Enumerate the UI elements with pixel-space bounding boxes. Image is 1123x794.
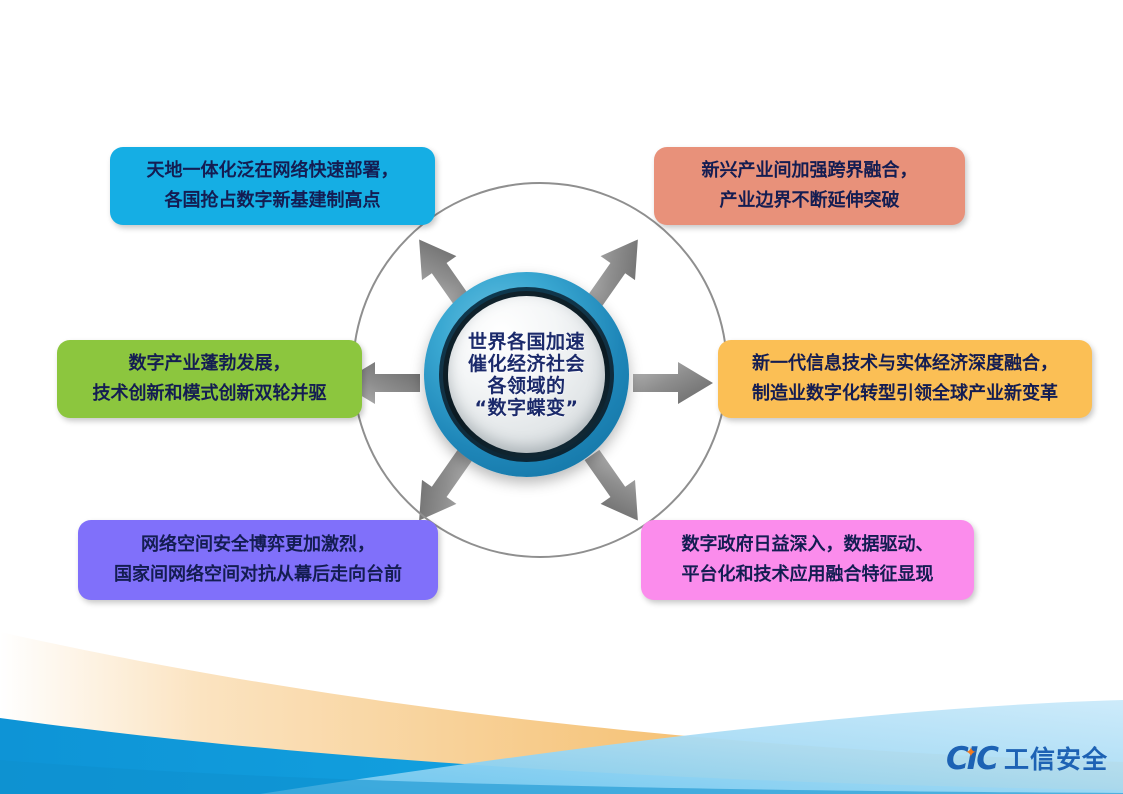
callout-top-right-line-1: 新兴产业间加强跨界融合， [702,156,918,186]
callout-right[interactable]: 新一代信息技术与实体经济深度融合， 制造业数字化转型引领全球产业新变革 [718,340,1092,418]
callout-left[interactable]: 数字产业蓬勃发展， 技术创新和模式创新双轮并驱 [57,340,362,418]
center-line-3: 各领域的 [468,375,585,397]
callout-top-right[interactable]: 新兴产业间加强跨界融合， 产业边界不断延伸突破 [654,147,965,225]
callout-left-line-1: 数字产业蓬勃发展， [129,349,291,379]
callout-top-left-line-1: 天地一体化泛在网络快速部署， [147,156,399,186]
medallion-inner-disc: 世界各国加速 催化经济社会 各领域的 “数字蝶变” [448,296,605,453]
callout-right-line-1: 新一代信息技术与实体经济深度融合， [752,349,1058,379]
callout-top-left[interactable]: 天地一体化泛在网络快速部署， 各国抢占数字新基建制高点 [110,147,435,225]
callout-top-left-line-2: 各国抢占数字新基建制高点 [165,186,381,216]
center-text-block: 世界各国加速 催化经济社会 各领域的 “数字蝶变” [462,331,591,419]
callout-bottom-left[interactable]: 网络空间安全博弈更加激烈， 国家间网络空间对抗从幕后走向台前 [78,520,438,600]
callout-bottom-right-line-1: 数字政府日益深入，数据驱动、 [682,530,934,560]
center-medallion[interactable]: 世界各国加速 催化经济社会 各领域的 “数字蝶变” [424,272,629,477]
center-line-2: 催化经济社会 [468,353,585,375]
cic-wordmark-icon: CIC ✦ [946,744,997,775]
callout-bottom-right-line-2: 平台化和技术应用融合特征显现 [682,560,934,590]
callout-bottom-right[interactable]: 数字政府日益深入，数据驱动、 平台化和技术应用融合特征显现 [641,520,974,600]
callout-left-line-2: 技术创新和模式创新双轮并驱 [93,379,327,409]
center-line-1: 世界各国加速 [468,331,585,353]
callout-right-line-2: 制造业数字化转型引领全球产业新变革 [752,379,1058,409]
callout-top-right-line-2: 产业边界不断延伸突破 [720,186,900,216]
brand-logo: CIC ✦ 工信安全 [946,744,1108,775]
callout-bottom-left-line-1: 网络空间安全博弈更加激烈， [141,530,375,560]
logo-company-name: 工信安全 [1004,747,1108,773]
callout-bottom-left-line-2: 国家间网络空间对抗从幕后走向台前 [114,560,402,590]
center-line-4: “数字蝶变” [468,397,585,419]
slide-canvas: 世界各国加速 催化经济社会 各领域的 “数字蝶变” 天地一体化泛在网络快速部署，… [0,0,1123,794]
star-icon: ✦ [965,748,976,759]
